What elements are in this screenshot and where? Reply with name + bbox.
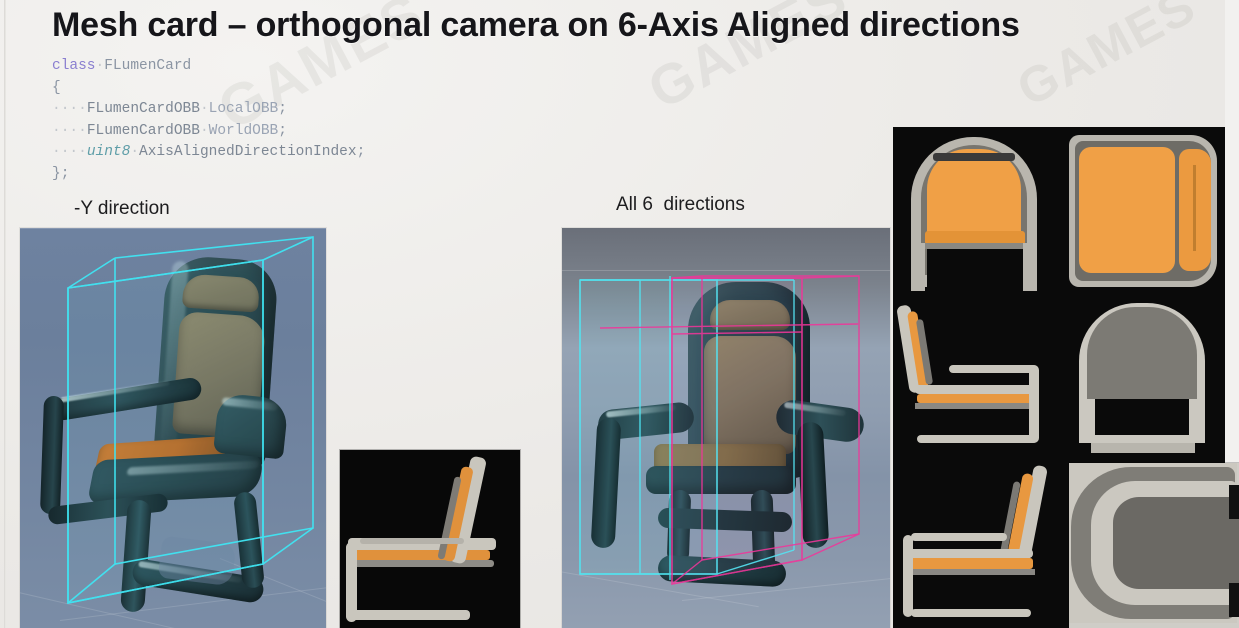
- code-line: ····uint8·AxisAlignedDirectionIndex;: [52, 142, 365, 164]
- code-token: uint8: [87, 144, 131, 160]
- code-token: WorldOBB: [209, 123, 279, 139]
- card-bottom-minus-z[interactable]: [1069, 463, 1239, 628]
- code-token: ;: [278, 101, 287, 117]
- card-preview-side-view[interactable]: [340, 450, 520, 628]
- viewport-minus-y-direction[interactable]: [20, 228, 326, 628]
- code-token: {: [52, 80, 61, 96]
- page-gutter: [4, 0, 6, 628]
- card-back-minus-x[interactable]: [1065, 303, 1221, 453]
- code-line: class·FLumenCard: [52, 56, 365, 78]
- caption-right-viewport: All 6 directions: [616, 194, 745, 216]
- bounding-box-magenta: [562, 228, 890, 628]
- slide-canvas: GAMES GAMES GAMES GAMES Mesh card – orth…: [0, 0, 1239, 628]
- code-token: LocalOBB: [209, 101, 279, 117]
- bounding-box-cyan: [20, 228, 326, 628]
- slide-title: Mesh card – orthogonal camera on 6-Axis …: [52, 6, 1020, 45]
- code-block: class·FLumenCard{····FLumenCardOBB·Local…: [52, 56, 365, 185]
- caption-left-viewport: -Y direction: [74, 198, 170, 220]
- code-token: ·: [130, 144, 139, 160]
- viewport-all-6-directions[interactable]: [562, 228, 890, 628]
- code-token: FLumenCardOBB: [87, 101, 200, 117]
- code-token: ;: [357, 144, 366, 160]
- card-side-minus-y[interactable]: [897, 303, 1057, 453]
- code-token: ·: [200, 123, 209, 139]
- watermark-text: GAMES: [1008, 0, 1206, 118]
- code-line: ····FLumenCardOBB·WorldOBB;: [52, 121, 365, 143]
- code-token: ····: [52, 144, 87, 160]
- code-token: FLumenCardOBB: [87, 123, 200, 139]
- code-token: ;: [278, 123, 287, 139]
- card-top-plus-z[interactable]: [1065, 131, 1221, 299]
- card-front-plus-x[interactable]: [897, 131, 1057, 299]
- code-token: FLumenCard: [104, 58, 191, 74]
- code-token: ·: [96, 58, 105, 74]
- code-line: };: [52, 164, 365, 186]
- code-token: ·: [200, 101, 209, 117]
- code-token: class: [52, 58, 96, 74]
- code-token: ····: [52, 101, 87, 117]
- code-line: ····FLumenCardOBB·LocalOBB;: [52, 99, 365, 121]
- code-token: AxisAlignedDirectionIndex: [139, 144, 357, 160]
- code-token: ····: [52, 123, 87, 139]
- code-token: };: [52, 166, 69, 182]
- code-line: {: [52, 78, 365, 100]
- card-side-plus-y[interactable]: [897, 457, 1057, 624]
